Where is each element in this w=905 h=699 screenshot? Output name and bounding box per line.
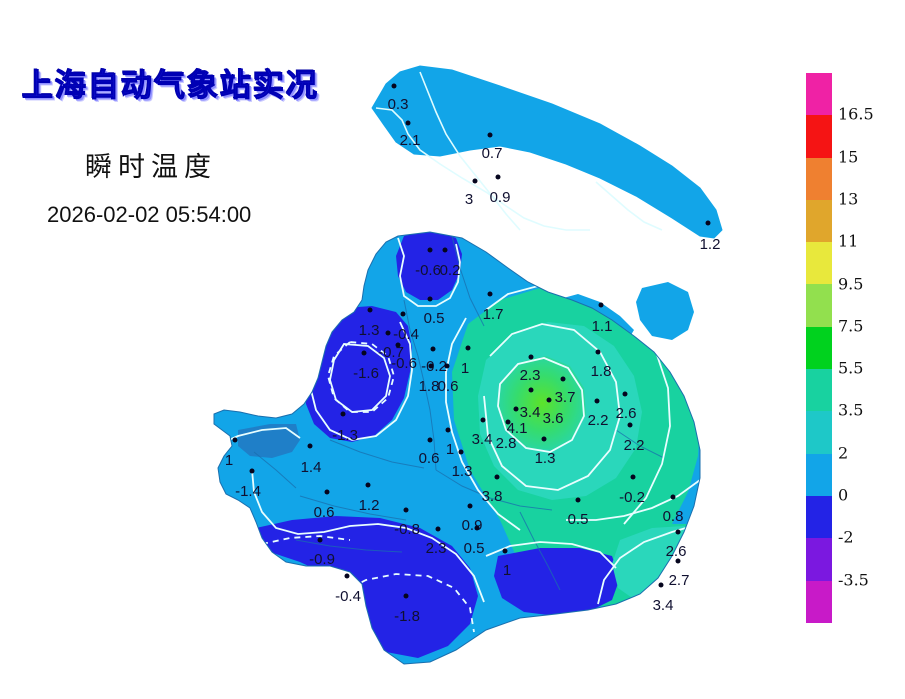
station-dot: [488, 133, 493, 138]
colorbar-band: [806, 158, 832, 200]
colorbar-band: [806, 242, 832, 284]
station-dot: [576, 498, 581, 503]
station-dot: [561, 377, 566, 382]
colorbar-band: [806, 581, 832, 623]
colorbar-tick-label: 16.5: [838, 105, 874, 124]
colorbar-band: [806, 496, 832, 538]
station-dot: [468, 504, 473, 509]
station-dot: [345, 574, 350, 579]
colorbar-tick-label: -3.5: [838, 570, 869, 589]
region-islet-east: [630, 276, 710, 348]
station-dot: [503, 549, 508, 554]
station-dot: [631, 475, 636, 480]
station-dot: [514, 407, 519, 412]
colorbar-band: [806, 538, 832, 580]
station-dot: [366, 483, 371, 488]
colorbar-band: [806, 73, 832, 115]
station-dot: [459, 450, 464, 455]
map-canvas: [0, 0, 760, 699]
station-dot: [706, 221, 711, 226]
temperature-map[interactable]: 0.32.10.730.91.2-0.60.20.51.71.3-0.4-0.7…: [0, 0, 760, 699]
station-dot: [436, 527, 441, 532]
colorbar-tick-label: 5.5: [838, 359, 863, 378]
station-dot: [404, 508, 409, 513]
station-dot: [659, 583, 664, 588]
colorbar-tick-label: 2: [838, 443, 848, 462]
station-dot: [250, 469, 255, 474]
station-dot: [341, 412, 346, 417]
station-dot: [404, 594, 409, 599]
colorbar-tick-label: 7.5: [838, 316, 863, 335]
colorbar-tick-label: 9.5: [838, 274, 863, 293]
station-dot: [445, 364, 450, 369]
station-dot: [547, 398, 552, 403]
colorbar-tick-label: -2: [838, 528, 854, 547]
station-dot: [481, 418, 486, 423]
station-dot: [431, 347, 436, 352]
station-dot: [308, 444, 313, 449]
colorbar-tick-label: 3.5: [838, 401, 863, 420]
colorbar-tick-label: 0: [838, 486, 848, 505]
station-dot: [671, 495, 676, 500]
station-dot: [495, 475, 500, 480]
station-dot: [401, 312, 406, 317]
station-dot: [599, 303, 604, 308]
station-dot: [628, 423, 633, 428]
station-dot: [506, 420, 511, 425]
station-dot: [368, 308, 373, 313]
station-dot: [623, 392, 628, 397]
station-dot: [488, 292, 493, 297]
station-dot: [542, 437, 547, 442]
station-dot: [443, 248, 448, 253]
colorbar-band: [806, 369, 832, 411]
weather-map-page: 上海自动气象站实况 瞬时温度 2026-02-02 05:54:00: [0, 0, 905, 699]
station-dot: [318, 538, 323, 543]
station-dot: [396, 343, 401, 348]
colorbar-tick-label: 15: [838, 147, 858, 166]
station-dot: [325, 490, 330, 495]
colorbar-band: [806, 200, 832, 242]
station-dot: [233, 438, 238, 443]
station-dot: [676, 559, 681, 564]
station-dot: [475, 526, 480, 531]
station-dot: [428, 297, 433, 302]
station-dot: [529, 388, 534, 393]
station-dot: [392, 84, 397, 89]
station-dot: [428, 438, 433, 443]
station-dot: [496, 175, 501, 180]
colorbar-tick-label: 13: [838, 189, 858, 208]
temperature-colorbar[interactable]: [805, 72, 833, 624]
station-dot: [676, 530, 681, 535]
station-dot: [529, 355, 534, 360]
colorbar-band: [806, 284, 832, 326]
station-dot: [406, 121, 411, 126]
station-dot: [446, 428, 451, 433]
station-dot: [386, 331, 391, 336]
colorbar-band: [806, 454, 832, 496]
station-dot: [595, 399, 600, 404]
station-dot: [466, 346, 471, 351]
colorbar-band: [806, 411, 832, 453]
colorbar-band: [806, 327, 832, 369]
station-dot: [429, 364, 434, 369]
station-dot: [473, 179, 478, 184]
station-dot: [428, 248, 433, 253]
colorbar-band: [806, 115, 832, 157]
colorbar-tick-label: 11: [838, 232, 858, 251]
station-dot: [362, 351, 367, 356]
band-below-zero-north: [396, 230, 462, 300]
station-dot: [596, 350, 601, 355]
